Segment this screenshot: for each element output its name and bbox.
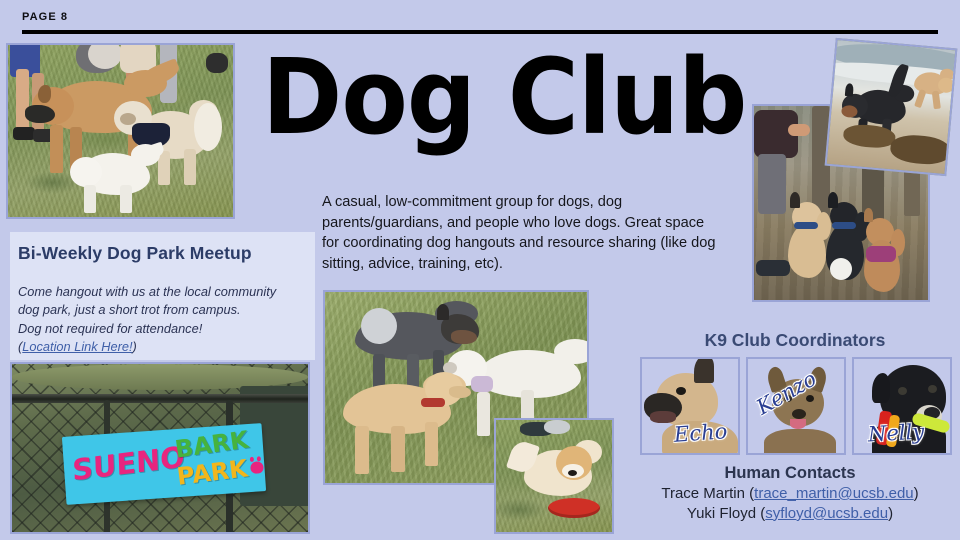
bark-park-sign-board: SUENO BARK PARK bbox=[62, 423, 266, 505]
coordinator-card-echo: Echo bbox=[640, 357, 740, 455]
coordinator-name-echo: Echo bbox=[673, 419, 728, 447]
link-paren-close: ) bbox=[133, 339, 137, 354]
contact-name-2: Yuki Floyd bbox=[687, 505, 756, 522]
paw-print-icon bbox=[250, 461, 264, 474]
photo-dogs-playing-grass bbox=[6, 43, 235, 219]
red-frisbee bbox=[548, 498, 600, 518]
contact-row-2: Yuki Floyd (syfloyd@ucsb.edu) bbox=[620, 504, 960, 524]
meetup-line-1: Come hangout with us at the local commun… bbox=[18, 283, 308, 301]
coordinators-heading: K9 Club Coordinators bbox=[636, 330, 954, 351]
contact-email-2[interactable]: syfloyd@ucsb.edu bbox=[765, 505, 888, 522]
meetup-line-2: dog park, just a short trot from campus. bbox=[18, 301, 308, 319]
meetup-link-line: (Location Link Here!) bbox=[18, 338, 308, 356]
slide-canvas: PAGE 8 bbox=[0, 0, 960, 540]
photo-dog-with-frisbee bbox=[494, 418, 614, 534]
photo-dogs-on-beach bbox=[825, 38, 958, 176]
contact-row-1: Trace Martin (trace_martin@ucsb.edu) bbox=[620, 484, 960, 504]
coordinator-card-nelly: Nelly bbox=[852, 357, 952, 455]
contact-paren-close-1: ) bbox=[914, 485, 919, 502]
photo-sueno-bark-park-sign: SUENO BARK PARK bbox=[10, 362, 310, 534]
page-title: Dog Club bbox=[262, 48, 746, 147]
meetup-body: Come hangout with us at the local commun… bbox=[18, 283, 308, 356]
coordinator-card-kenzo: Kenzo bbox=[746, 357, 846, 455]
location-link[interactable]: Location Link Here! bbox=[22, 339, 132, 354]
contact-paren-close-2: ) bbox=[888, 505, 893, 522]
header-divider bbox=[22, 30, 938, 34]
contact-email-1[interactable]: trace_martin@ucsb.edu bbox=[754, 485, 913, 502]
meetup-line-3: Dog not required for attendance! bbox=[18, 320, 308, 338]
meetup-heading: Bi-Weekly Dog Park Meetup bbox=[18, 243, 252, 264]
coordinator-name-nelly: Nelly bbox=[867, 420, 924, 447]
fence-rail bbox=[12, 394, 308, 403]
page-label: PAGE 8 bbox=[22, 11, 68, 23]
contact-name-1: Trace Martin bbox=[661, 485, 745, 502]
sign-word-sueno: SUENO bbox=[72, 440, 186, 488]
intro-paragraph: A casual, low-commitment group for dogs,… bbox=[322, 192, 722, 275]
human-contacts-heading: Human Contacts bbox=[620, 464, 960, 483]
human-contacts-block: Human Contacts Trace Martin (trace_marti… bbox=[620, 464, 960, 524]
